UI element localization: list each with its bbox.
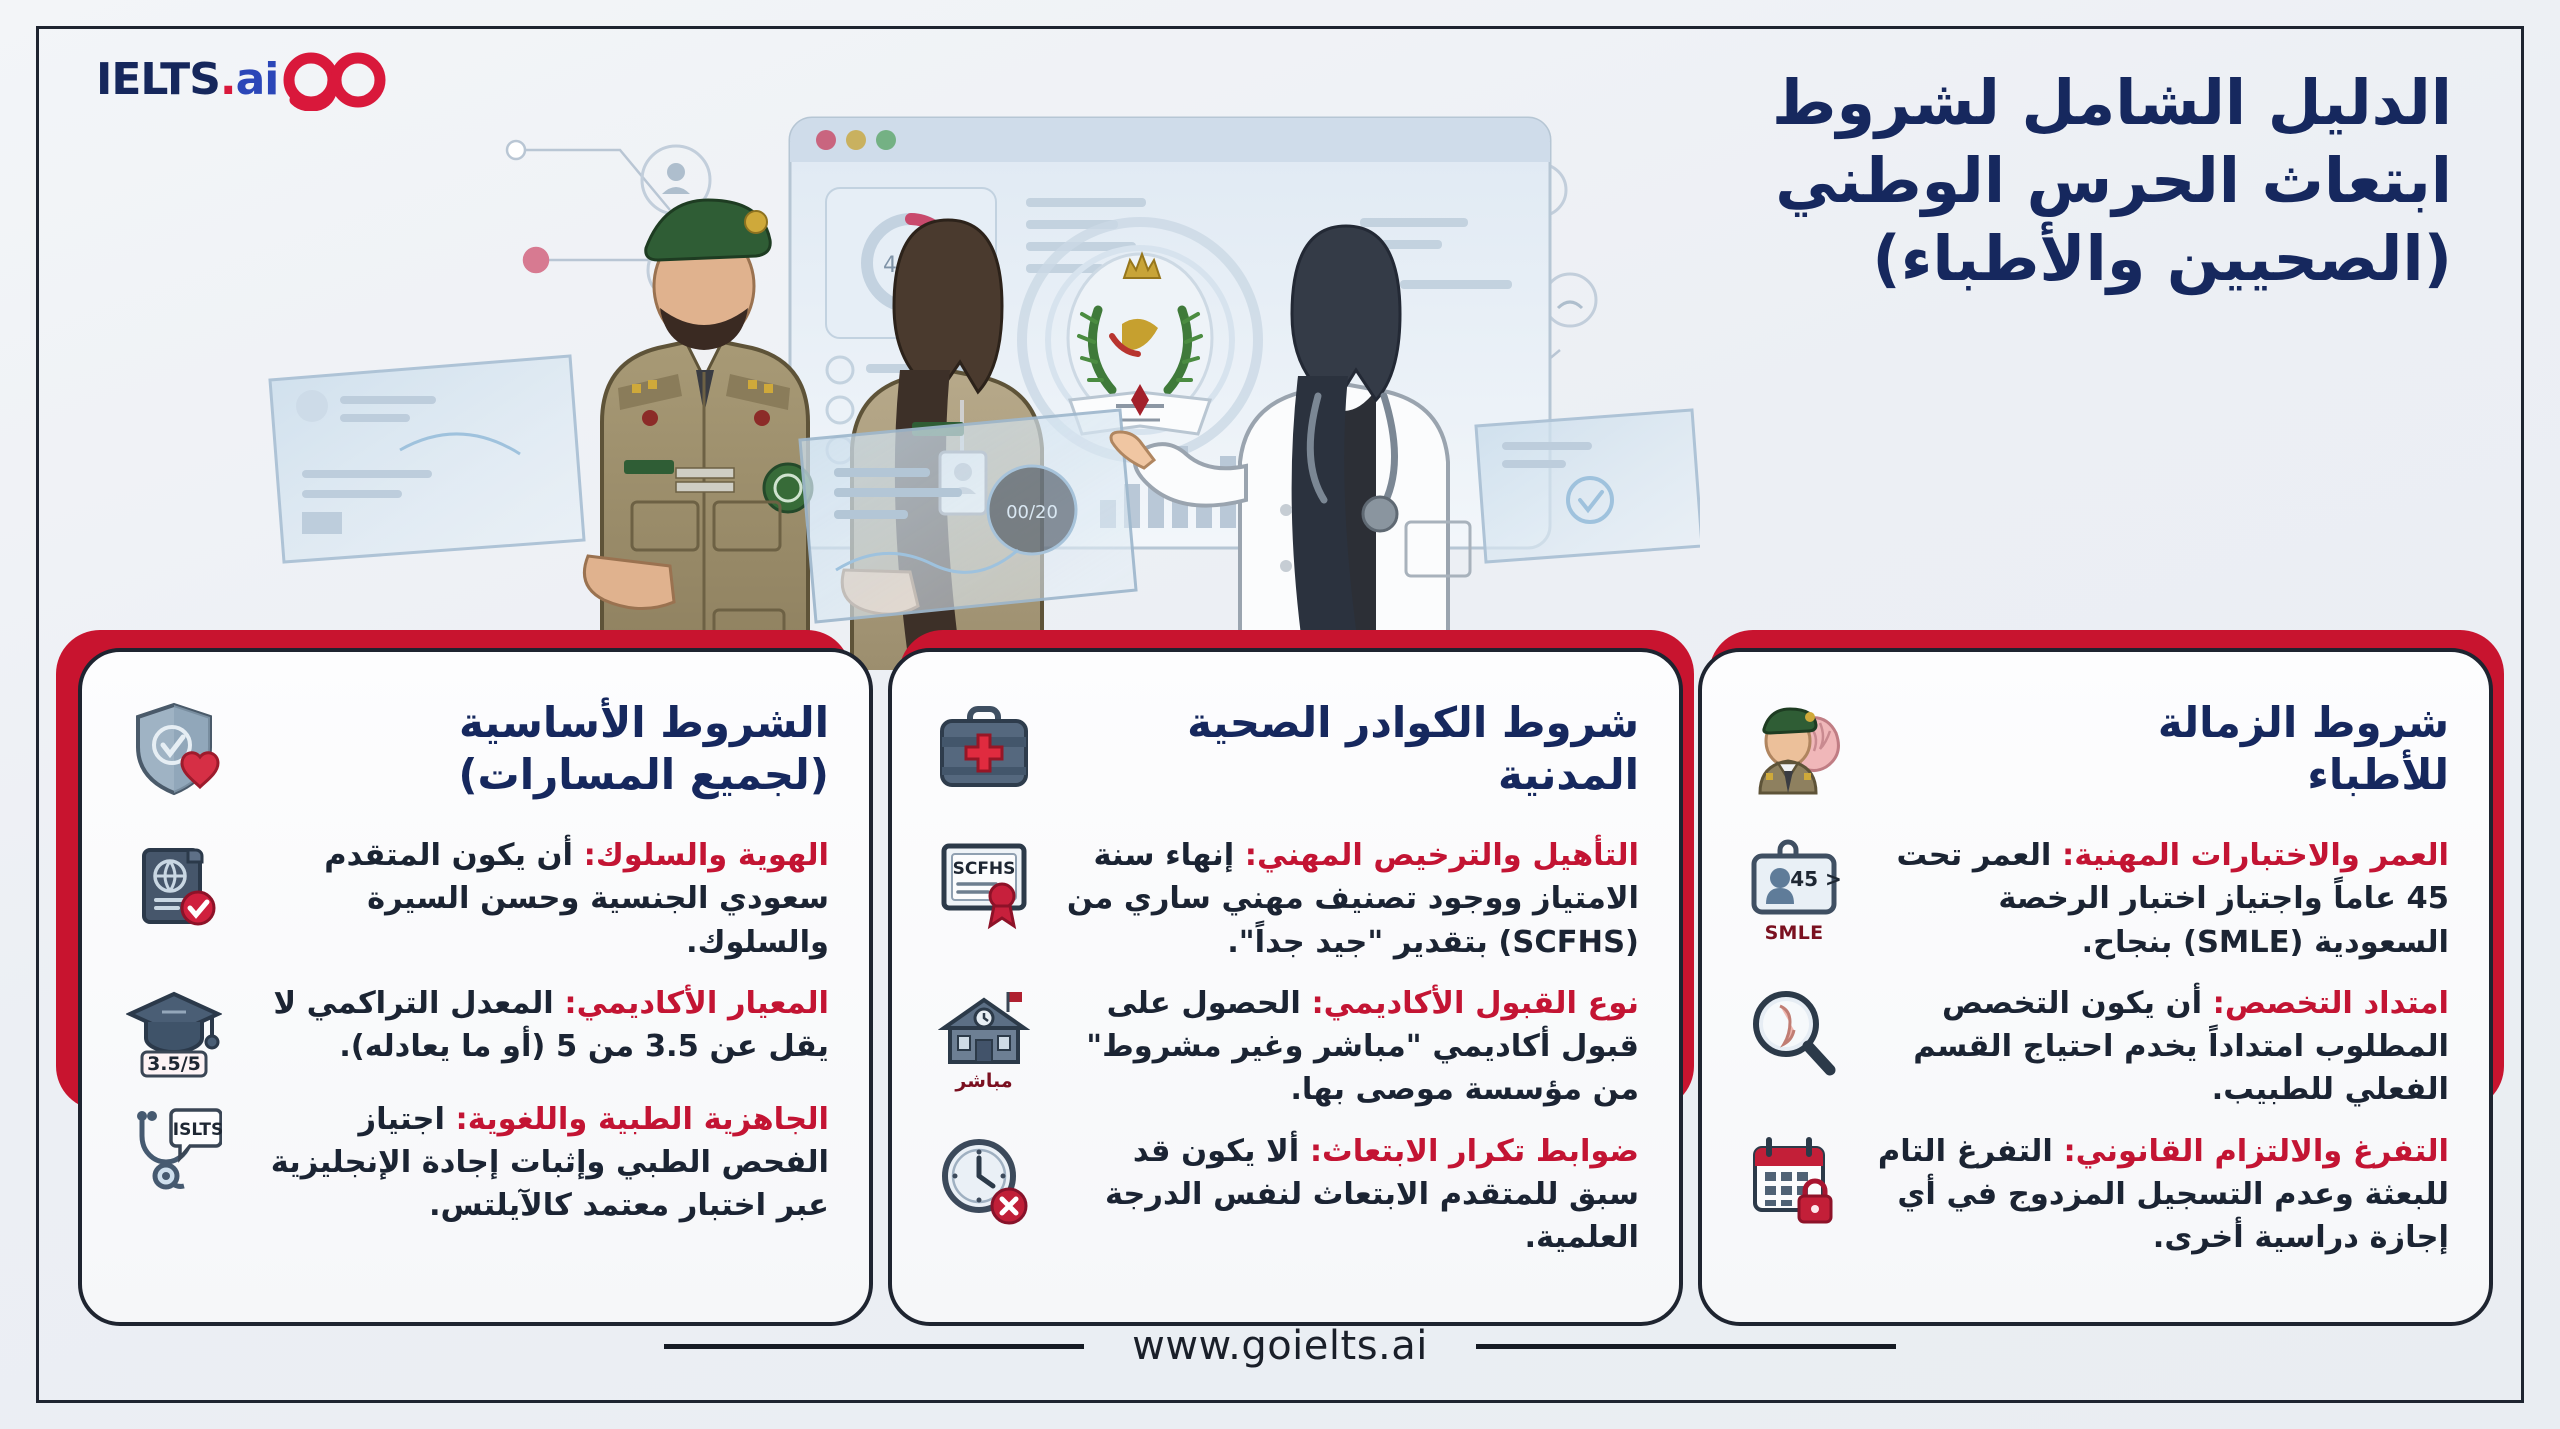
icon-caption: SMLE bbox=[1765, 922, 1824, 944]
glass-panel-left bbox=[270, 356, 584, 562]
card-header: شروط الزمالة للأطباء bbox=[1742, 690, 2449, 808]
graduation-cap-icon: 3.5/5 bbox=[122, 982, 226, 1080]
list-item-text: الجاهزية الطبية واللغوية: اجتياز الفحص ا… bbox=[244, 1098, 829, 1228]
glass-tablet-center: 00/20 bbox=[800, 410, 1136, 622]
calendar-lock-icon bbox=[1742, 1130, 1846, 1226]
list-item-text: العمر والاختبارات المهنية: العمر تحت 45 … bbox=[1864, 834, 2449, 964]
certificate-scfhs-icon: SCFHS bbox=[932, 834, 1036, 930]
item-label: الجاهزية الطبية واللغوية: bbox=[456, 1102, 829, 1137]
card-title-line-1: الشروط الأساسية bbox=[459, 698, 829, 747]
clock-no-repeat-icon bbox=[932, 1130, 1036, 1226]
card-header: الشروط الأساسية (لجميع المسارات) bbox=[122, 690, 829, 808]
id-badge-age-icon: < 45 SMLE bbox=[1742, 834, 1846, 944]
list-item: SCFHS التأهيل والترخيص المهني: إنهاء سنة… bbox=[932, 834, 1639, 964]
logo-wordmark: IELTS.ai bbox=[96, 58, 278, 102]
card-title: الشروط الأساسية (لجميع المسارات) bbox=[248, 697, 829, 801]
list-item: < 45 SMLE العمر والاختبارات المهنية: الع… bbox=[1742, 834, 2449, 964]
item-label: امتداد التخصص: bbox=[2213, 986, 2449, 1021]
go-logo-icon bbox=[278, 49, 390, 111]
magnifier-bone-icon bbox=[1742, 982, 1846, 1080]
card-body: شروط الكوادر الصحية المدنية SCFHS bbox=[888, 648, 1683, 1326]
list-item: مباشر نوع القبول الأكاديمي: الحصول على ق… bbox=[932, 982, 1639, 1112]
list-item: امتداد التخصص: أن يكون التخصص المطلوب ام… bbox=[1742, 982, 2449, 1112]
card-basic-requirements: الشروط الأساسية (لجميع المسارات) bbox=[78, 648, 862, 1348]
list-item-text: ضوابط تكرار الابتعاث: ألا يكون قد سبق لل… bbox=[1054, 1130, 1639, 1260]
card-title-line-2: المدنية bbox=[1498, 750, 1639, 799]
footer: www.goielts.ai bbox=[0, 1311, 2560, 1381]
list-item: الهوية والسلوك: أن يكون المتقدم سعودي ال… bbox=[122, 834, 829, 964]
card-title-line-2: للأطباء bbox=[2307, 750, 2449, 799]
hero-illustration: 4000 bbox=[240, 70, 1700, 670]
list-item-text: امتداد التخصص: أن يكون التخصص المطلوب ام… bbox=[1864, 982, 2449, 1112]
card-title: شروط الزمالة للأطباء bbox=[1868, 697, 2449, 801]
item-label: التفرغ والالتزام القانوني: bbox=[2063, 1134, 2449, 1169]
card-civil-health-cadres: شروط الكوادر الصحية المدنية SCFHS bbox=[888, 648, 1672, 1348]
requirement-cards: الشروط الأساسية (لجميع المسارات) bbox=[78, 648, 2482, 1348]
item-label: الهوية والسلوك: bbox=[584, 838, 829, 873]
footer-rule-left bbox=[664, 1344, 1084, 1349]
card-body: شروط الزمالة للأطباء < 45 bbox=[1698, 648, 2493, 1326]
tablet-value: 00/20 bbox=[1006, 502, 1058, 523]
item-label: نوع القبول الأكاديمي: bbox=[1311, 986, 1639, 1021]
ielts-badge-text: ISLTS bbox=[173, 1120, 222, 1140]
list-item: 3.5/5 المعيار الأكاديمي: المعدل التراكمي… bbox=[122, 982, 829, 1080]
list-item: ISLTS الجاهزية الطبية واللغوية: اجتياز ا… bbox=[122, 1098, 829, 1228]
list-item-text: نوع القبول الأكاديمي: الحصول على قبول أك… bbox=[1054, 982, 1639, 1112]
gpa-badge-text: 3.5/5 bbox=[147, 1053, 201, 1075]
card-title-line-2: (لجميع المسارات) bbox=[458, 750, 829, 799]
card-items: الهوية والسلوك: أن يكون المتقدم سعودي ال… bbox=[122, 834, 829, 1228]
brand-logo[interactable]: IELTS.ai bbox=[96, 48, 390, 112]
list-item: ضوابط تكرار الابتعاث: ألا يكون قد سبق لل… bbox=[932, 1130, 1639, 1260]
glass-panel-right bbox=[1476, 410, 1700, 562]
soldier-figure bbox=[584, 200, 812, 670]
medical-bag-icon bbox=[932, 697, 1036, 801]
list-item-text: التأهيل والترخيص المهني: إنهاء سنة الامت… bbox=[1054, 834, 1639, 964]
item-label: العمر والاختبارات المهنية: bbox=[2062, 838, 2449, 873]
card-items: SCFHS التأهيل والترخيص المهني: إنهاء سنة… bbox=[932, 834, 1639, 1260]
card-title-line-1: شروط الكوادر الصحية bbox=[1187, 698, 1639, 747]
officer-brain-icon bbox=[1742, 697, 1846, 801]
infographic-page: IELTS.ai الدليل الشامل لشروط ابتعاث الحر… bbox=[0, 0, 2560, 1429]
item-label: المعيار الأكاديمي: bbox=[564, 986, 829, 1021]
title-line-2: ابتعاث الحرس الوطني bbox=[1692, 142, 2452, 220]
footer-rule-right bbox=[1476, 1344, 1896, 1349]
card-title: شروط الكوادر الصحية المدنية bbox=[1058, 697, 1639, 801]
list-item-text: الهوية والسلوك: أن يكون المتقدم سعودي ال… bbox=[244, 834, 829, 964]
stethoscope-ielts-icon: ISLTS bbox=[122, 1098, 226, 1196]
list-item-text: التفرغ والالتزام القانوني: التفرغ التام … bbox=[1864, 1130, 2449, 1260]
card-items: < 45 SMLE العمر والاختبارات المهنية: الع… bbox=[1742, 834, 2449, 1260]
scfhs-badge-text: SCFHS bbox=[953, 859, 1016, 879]
title-line-3: (الصحيين والأطباء) bbox=[1692, 220, 2452, 298]
card-header: شروط الكوادر الصحية المدنية bbox=[932, 690, 1639, 808]
icon-caption: مباشر bbox=[955, 1070, 1012, 1092]
title-line-1: الدليل الشامل لشروط bbox=[1692, 64, 2452, 142]
university-icon: مباشر bbox=[932, 982, 1036, 1092]
passport-check-icon bbox=[122, 834, 226, 930]
item-label: التأهيل والترخيص المهني: bbox=[1245, 838, 1639, 873]
age-badge-text: < 45 bbox=[1790, 867, 1842, 891]
card-body: الشروط الأساسية (لجميع المسارات) bbox=[78, 648, 873, 1326]
footer-url[interactable]: www.goielts.ai bbox=[1132, 1323, 1428, 1369]
list-item: التفرغ والالتزام القانوني: التفرغ التام … bbox=[1742, 1130, 2449, 1260]
card-fellowship-doctors: شروط الزمالة للأطباء < 45 bbox=[1698, 648, 2482, 1348]
item-label: ضوابط تكرار الابتعاث: bbox=[1310, 1134, 1639, 1169]
page-title: الدليل الشامل لشروط ابتعاث الحرس الوطني … bbox=[1692, 64, 2452, 298]
card-title-line-1: شروط الزمالة bbox=[2158, 698, 2449, 747]
list-item-text: المعيار الأكاديمي: المعدل التراكمي لا يق… bbox=[244, 982, 829, 1069]
shield-heart-icon bbox=[122, 697, 226, 801]
